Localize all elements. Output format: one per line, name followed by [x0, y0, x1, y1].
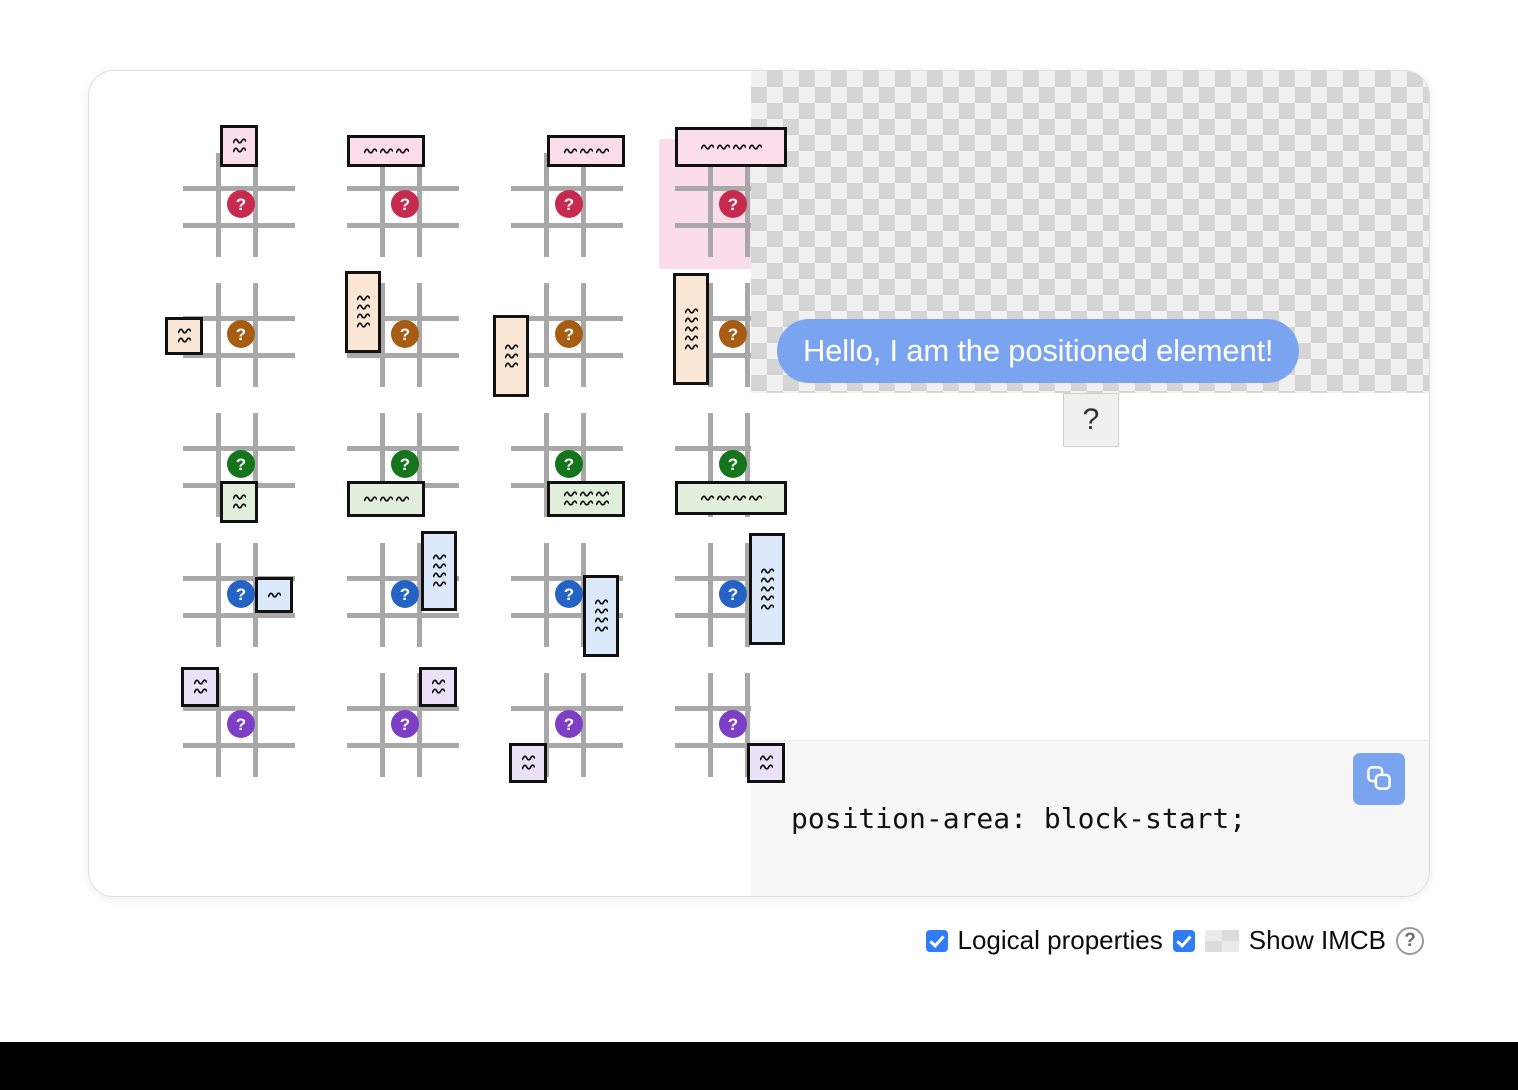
squiggle-row	[761, 568, 774, 575]
positioned-box-preview	[419, 667, 457, 707]
anchor-marker-icon: ?	[555, 450, 583, 478]
anchor-marker-icon: ?	[719, 320, 747, 348]
positioned-box-preview	[220, 125, 258, 167]
positioned-box-preview	[675, 481, 787, 515]
picker-cell[interactable]: ?	[331, 269, 479, 399]
anchor-marker-icon: ?	[227, 450, 255, 478]
picker-cell[interactable]: ?	[167, 139, 315, 269]
picker-cell[interactable]: ?	[167, 659, 315, 789]
anchor-marker-icon: ?	[391, 320, 419, 348]
anchor-element-chip: ?	[1063, 393, 1119, 447]
picker-cell[interactable]: ?	[495, 269, 643, 399]
squiggle-row	[268, 592, 281, 599]
squiggle-row	[761, 586, 774, 593]
logical-properties-checkbox[interactable]	[926, 930, 948, 952]
squiggle-row	[364, 148, 409, 155]
copy-icon	[1364, 763, 1394, 796]
squiggle-row	[522, 764, 535, 771]
squiggle-row	[357, 313, 370, 320]
squiggle-row	[761, 604, 774, 611]
squiggle-row	[595, 626, 608, 633]
positioned-box-preview	[165, 317, 203, 355]
squiggle-row	[685, 344, 698, 351]
page-bottom-bar	[0, 1042, 1518, 1090]
picker-cell[interactable]: ?	[331, 399, 479, 529]
positioned-box-preview	[493, 315, 529, 397]
squiggle-row	[564, 148, 609, 155]
picker-cell[interactable]: ?	[495, 139, 643, 269]
squiggle-row	[357, 295, 370, 302]
squiggle-row	[701, 144, 762, 151]
positioned-box-preview	[675, 127, 787, 167]
picker-cell[interactable]: ?	[167, 269, 315, 399]
picker-grid: ????????????????????	[167, 139, 807, 789]
picker-cell[interactable]: ?	[659, 529, 807, 659]
positioned-box-preview	[347, 481, 425, 517]
positioned-box-preview	[255, 577, 293, 613]
positioned-element-bubble: Hello, I am the positioned element!	[777, 319, 1299, 383]
squiggle-row	[761, 577, 774, 584]
position-area-picker: ????????????????????	[89, 71, 751, 896]
show-imcb-label[interactable]: Show IMCB	[1249, 925, 1386, 956]
anchor-marker-icon: ?	[719, 450, 747, 478]
squiggle-row	[178, 337, 191, 344]
positioned-box-preview	[747, 743, 785, 783]
picker-cell[interactable]: ?	[495, 659, 643, 789]
squiggle-row	[760, 755, 773, 762]
squiggle-row	[505, 344, 518, 351]
squiggle-row	[364, 496, 409, 503]
squiggle-row	[685, 326, 698, 333]
squiggle-row	[357, 304, 370, 311]
squiggle-row	[433, 581, 446, 588]
squiggle-row	[564, 491, 609, 498]
squiggle-row	[685, 335, 698, 342]
logical-properties-label[interactable]: Logical properties	[958, 925, 1163, 956]
css-declaration-text: position-area: block-start;	[791, 802, 1246, 835]
anchor-marker-icon: ?	[555, 710, 583, 738]
picker-cell[interactable]: ?	[167, 529, 315, 659]
positioned-box-preview	[749, 533, 785, 645]
anchor-marker-icon: ?	[555, 580, 583, 608]
anchor-marker-icon: ?	[719, 710, 747, 738]
positioned-box-preview	[347, 135, 425, 167]
anchor-marker-icon: ?	[227, 580, 255, 608]
bottom-controls: Logical properties Show IMCB ?	[926, 925, 1425, 956]
squiggle-row	[433, 554, 446, 561]
squiggle-row	[701, 495, 762, 502]
position-area-card: ???????????????????? Hello, I am the pos…	[88, 70, 1430, 897]
anchor-marker-icon: ?	[391, 580, 419, 608]
demo-and-code-panel: Hello, I am the positioned element! ? po…	[751, 71, 1429, 896]
positioned-box-preview	[547, 135, 625, 167]
squiggle-row	[505, 353, 518, 360]
squiggle-row	[233, 138, 246, 145]
squiggle-row	[433, 563, 446, 570]
squiggle-row	[233, 503, 246, 510]
squiggle-row	[432, 679, 445, 686]
picker-cell[interactable]: ?	[495, 399, 643, 529]
squiggle-row	[685, 317, 698, 324]
anchor-marker-icon: ?	[391, 450, 419, 478]
anchor-marker-icon: ?	[719, 580, 747, 608]
positioned-box-preview	[220, 481, 258, 523]
squiggle-row	[760, 764, 773, 771]
positioned-box-preview	[181, 667, 219, 707]
squiggle-row	[761, 595, 774, 602]
picker-cell[interactable]: ?	[331, 529, 479, 659]
squiggle-row	[595, 617, 608, 624]
positioned-box-preview	[345, 271, 381, 353]
positioned-box-preview	[547, 481, 625, 517]
positioned-box-preview	[673, 273, 709, 385]
positioned-box-preview	[421, 531, 457, 611]
anchor-marker-icon: ?	[555, 320, 583, 348]
code-panel: position-area: block-start;	[751, 740, 1429, 896]
squiggle-row	[595, 599, 608, 606]
squiggle-row	[685, 308, 698, 315]
squiggle-row	[433, 572, 446, 579]
squiggle-row	[357, 322, 370, 329]
squiggle-row	[233, 147, 246, 154]
picker-cell[interactable]: ?	[331, 659, 479, 789]
squiggle-row	[595, 608, 608, 615]
anchor-marker-icon: ?	[391, 710, 419, 738]
squiggle-row	[178, 328, 191, 335]
help-icon[interactable]: ?	[1396, 927, 1424, 955]
squiggle-row	[564, 500, 609, 507]
copy-button[interactable]	[1353, 753, 1405, 805]
picker-cell[interactable]: ?	[495, 529, 643, 659]
positioned-box-preview	[509, 743, 547, 783]
anchor-marker-icon: ?	[227, 710, 255, 738]
anchor-marker-icon: ?	[391, 190, 419, 218]
anchor-marker-icon: ?	[227, 320, 255, 348]
squiggle-row	[522, 755, 535, 762]
imcb-swatch-icon	[1205, 930, 1239, 952]
squiggle-row	[194, 679, 207, 686]
anchor-marker-icon: ?	[719, 190, 747, 218]
squiggle-row	[505, 362, 518, 369]
squiggle-row	[194, 688, 207, 695]
picker-cell[interactable]: ?	[331, 139, 479, 269]
anchor-marker-icon: ?	[555, 190, 583, 218]
squiggle-row	[432, 688, 445, 695]
show-imcb-checkbox[interactable]	[1173, 930, 1195, 952]
demo-stage: Hello, I am the positioned element!	[751, 71, 1429, 393]
picker-cell[interactable]: ?	[167, 399, 315, 529]
squiggle-row	[233, 494, 246, 501]
anchor-marker-icon: ?	[227, 190, 255, 218]
positioned-box-preview	[583, 575, 619, 657]
